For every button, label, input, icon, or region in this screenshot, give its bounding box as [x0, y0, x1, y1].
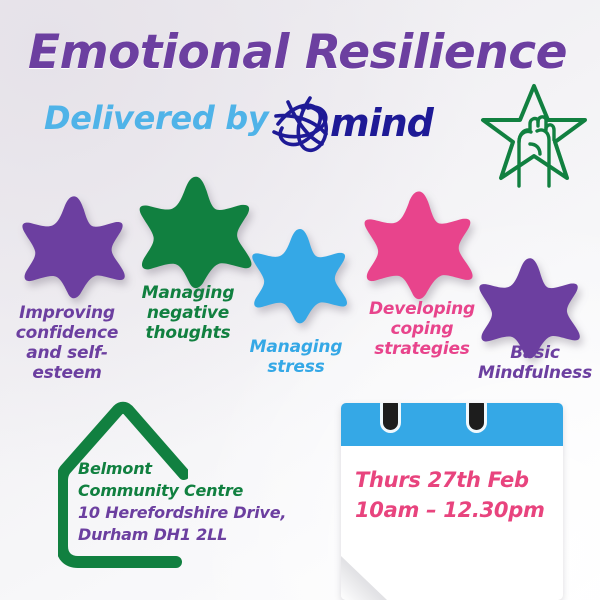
calendar-ring-right-icon — [469, 403, 484, 430]
star-fist-badge — [478, 82, 590, 190]
venue-address: Belmont Community Centre 10 Herefordshir… — [78, 458, 313, 546]
topic-label-5: Basic Mindfulness — [474, 343, 596, 383]
calendar-ring-left-icon — [383, 403, 398, 430]
star-icon — [18, 192, 130, 300]
topic-star-3 — [248, 225, 352, 325]
page-title: Emotional Resilience — [28, 24, 568, 82]
topic-star-1 — [18, 192, 130, 300]
calendar-header-bar — [341, 403, 563, 446]
schedule-time: 10am – 12.30pm — [355, 495, 555, 526]
topic-label-3: Managing stress — [238, 337, 354, 377]
calendar-page-curl — [341, 556, 387, 600]
venue-name-line-1: Belmont — [78, 458, 313, 480]
star-fist-icon — [478, 82, 590, 190]
venue-address-line-2: Durham DH1 2LL — [78, 524, 313, 546]
topic-star-2 — [135, 172, 257, 290]
mind-logo: mind — [268, 94, 438, 156]
subtitle-delivered-by: Delivered by — [44, 98, 268, 138]
star-icon — [135, 172, 257, 290]
star-icon — [248, 225, 352, 325]
topic-label-4: Developing coping strategies — [358, 299, 486, 359]
mind-wordmark: mind — [330, 100, 433, 146]
venue-address-line-1: 10 Herefordshire Drive, — [78, 502, 313, 524]
venue-name-line-2: Community Centre — [78, 480, 313, 502]
poster-canvas: Emotional Resilience Delivered by mind — [0, 0, 600, 600]
schedule-date: Thurs 27th Feb — [355, 465, 555, 496]
topic-star-4 — [360, 187, 478, 301]
star-icon — [360, 187, 478, 301]
topic-label-1: Improving confidence and self-esteem — [4, 303, 130, 383]
schedule-calendar: Thurs 27th Feb 10am – 12.30pm — [341, 403, 563, 600]
topic-label-2: Managing negative thoughts — [128, 283, 248, 343]
